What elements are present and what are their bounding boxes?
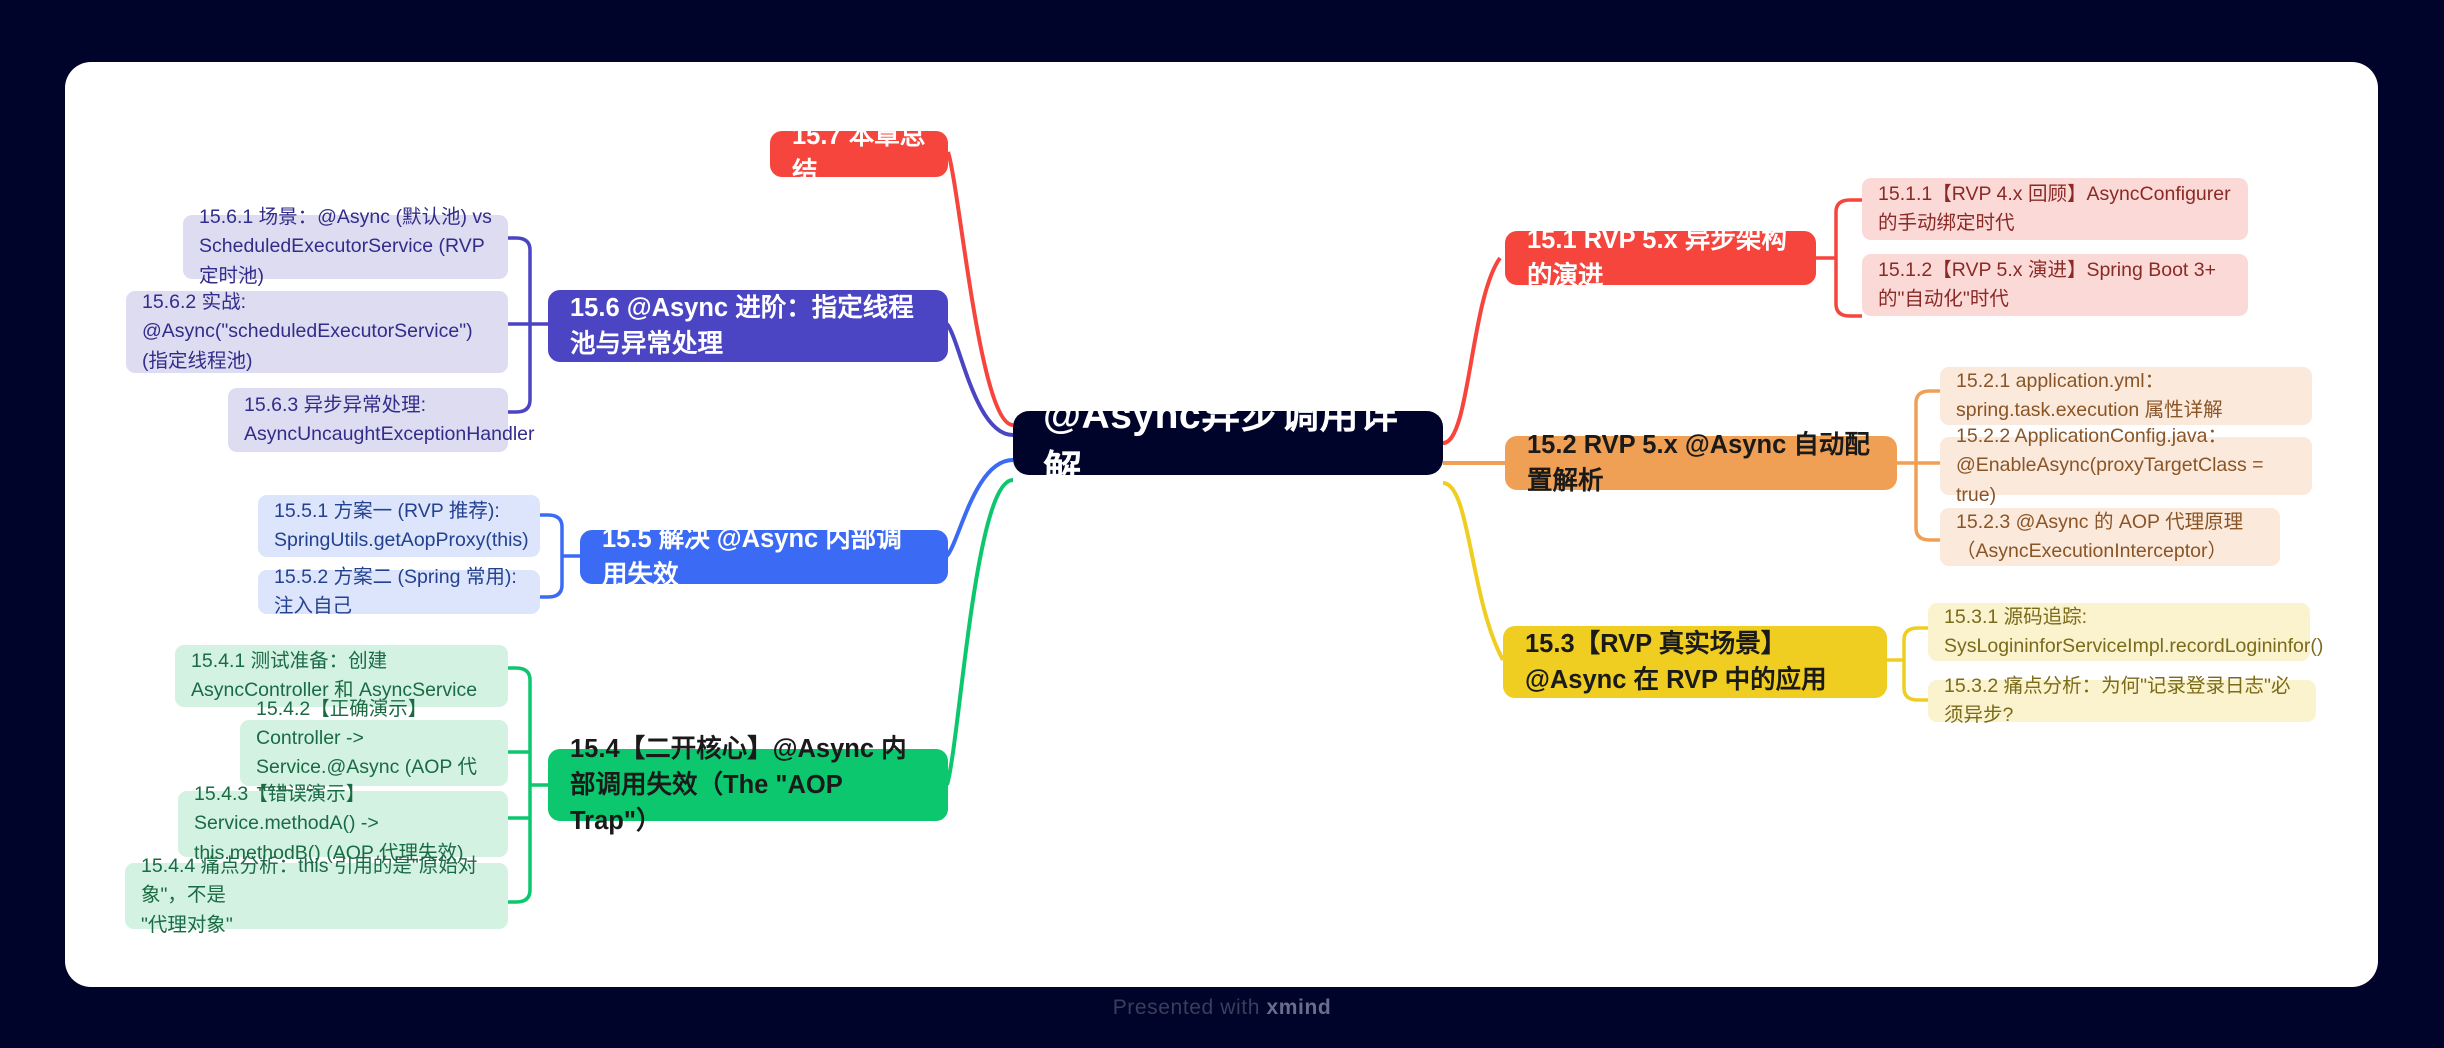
topic-15-7[interactable]: 15.7 本章总结 <box>770 131 948 177</box>
subtopic-15-4-2[interactable]: 15.4.2【正确演示】Controller -> Service.@Async… <box>240 720 508 786</box>
subtopic-15-3-2[interactable]: 15.3.2 痛点分析：为何"记录登录日志"必须异步? <box>1928 680 2316 722</box>
footer-prefix: Presented with <box>1113 996 1267 1019</box>
subtopic-15-6-3[interactable]: 15.6.3 异步异常处理: AsyncUncaughtExceptionHan… <box>228 388 508 452</box>
subtopic-15-5-2[interactable]: 15.5.2 方案二 (Spring 常用): 注入自己 <box>258 570 540 614</box>
topic-15-1[interactable]: 15.1 RVP 5.x 异步架构的演进 <box>1505 231 1816 285</box>
subtopic-15-2-1[interactable]: 15.2.1 application.yml： spring.task.exec… <box>1940 367 2312 425</box>
subtopic-15-1-1[interactable]: 15.1.1【RVP 4.x 回顾】AsyncConfigurer 的手动绑定时… <box>1862 178 2248 240</box>
footer-brand: xmind <box>1266 996 1331 1019</box>
topic-15-3[interactable]: 15.3【RVP 真实场景】@Async 在 RVP 中的应用 <box>1503 626 1887 698</box>
topic-15-4[interactable]: 15.4【二开核心】@Async 内部调用失效（The "AOP Trap"） <box>548 749 948 821</box>
subtopic-15-6-2[interactable]: 15.6.2 实战: @Async("scheduledExecutorServ… <box>126 291 508 373</box>
subtopic-15-2-3[interactable]: 15.2.3 @Async 的 AOP 代理原理 （AsyncExecution… <box>1940 508 2280 566</box>
topic-15-5[interactable]: 15.5 解决 @Async 内部调用失效 <box>580 530 948 584</box>
subtopic-15-3-1[interactable]: 15.3.1 源码追踪: SysLogininforServiceImpl.re… <box>1928 603 2310 661</box>
footer-attribution: Presented with xmind <box>0 996 2444 1020</box>
subtopic-15-5-1[interactable]: 15.5.1 方案一 (RVP 推荐): SpringUtils.getAopP… <box>258 495 540 557</box>
subtopic-15-6-1[interactable]: 15.6.1 场景：@Async (默认池) vs ScheduledExecu… <box>183 215 508 279</box>
root-topic[interactable]: @Async异步调用详解 <box>1013 411 1443 475</box>
subtopic-15-1-2[interactable]: 15.1.2【RVP 5.x 演进】Spring Boot 3+ 的"自动化"时… <box>1862 254 2248 316</box>
subtopic-15-4-3[interactable]: 15.4.3【错误演示】Service.methodA() -> this.me… <box>178 791 508 857</box>
mindmap-screen: @Async异步调用详解 15.1 RVP 5.x 异步架构的演进 15.1.1… <box>0 0 2444 1048</box>
topic-15-2[interactable]: 15.2 RVP 5.x @Async 自动配置解析 <box>1505 436 1897 490</box>
subtopic-15-4-4[interactable]: 15.4.4 痛点分析：this 引用的是"原始对象"，不是 "代理对象" <box>125 863 508 929</box>
topic-15-6[interactable]: 15.6 @Async 进阶：指定线程池与异常处理 <box>548 290 948 362</box>
subtopic-15-2-2[interactable]: 15.2.2 ApplicationConfig.java： @EnableAs… <box>1940 437 2312 495</box>
